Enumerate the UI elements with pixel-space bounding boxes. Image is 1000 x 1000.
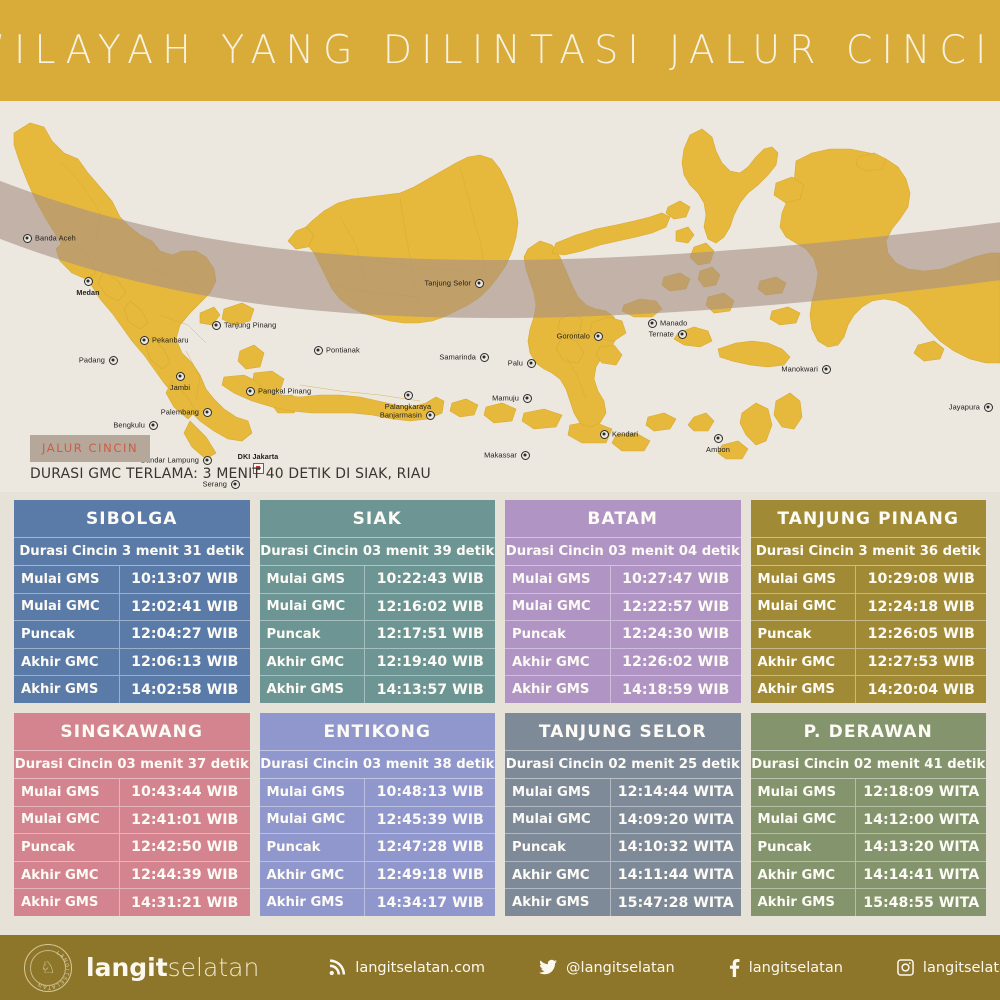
row-label: Akhir GMC	[505, 649, 611, 676]
map-panel: Banda AcehMedanPekanbaruTanjung PinangPa…	[0, 101, 1000, 492]
city-label: Jambi	[170, 383, 190, 392]
row-value: 12:42:50 WIB	[120, 839, 250, 855]
row-label: Akhir GMS	[14, 676, 120, 703]
row-value: 12:49:18 WIB	[365, 867, 495, 883]
card-duration: Durasi Cincin 02 menit 41 detik	[751, 751, 987, 779]
row-value: 12:44:39 WIB	[120, 867, 250, 883]
city-marker	[527, 359, 536, 368]
city-label: Tanjung Pinang	[224, 321, 276, 330]
row-value: 10:13:07 WIB	[120, 571, 250, 587]
row-label: Puncak	[751, 621, 857, 648]
city-marker	[523, 394, 532, 403]
row-value: 12:18:09 WITA	[856, 784, 986, 800]
table-row: Mulai GMS10:22:43 WIB	[260, 566, 496, 594]
brand-block: LANGITSELATAN ♘ langitselatan	[24, 944, 259, 992]
row-label: Akhir GMS	[14, 889, 120, 916]
city-marker	[480, 353, 489, 362]
table-row: Akhir GMS15:47:28 WITA	[505, 889, 741, 916]
row-label: Akhir GMC	[14, 862, 120, 889]
city-label: DKI Jakarta	[238, 452, 279, 461]
row-label: Akhir GMC	[260, 862, 366, 889]
table-row: Akhir GMC12:27:53 WIB	[751, 649, 987, 677]
row-label: Puncak	[751, 834, 857, 861]
table-row: Akhir GMC14:14:41 WITA	[751, 862, 987, 890]
row-label: Puncak	[505, 834, 611, 861]
table-row: Puncak12:26:05 WIB	[751, 621, 987, 649]
card-duration: Durasi Cincin 02 menit 25 detik	[505, 751, 741, 779]
page-title: WILAYAH YANG DILINTASI JALUR CINCIN	[0, 28, 1000, 73]
table-row: Mulai GMS10:43:44 WIB	[14, 779, 250, 807]
table-row: Akhir GMC12:49:18 WIB	[260, 862, 496, 890]
row-value: 12:16:02 WIB	[365, 599, 495, 615]
row-value: 10:27:47 WIB	[611, 571, 741, 587]
city-timing-card: P. DERAWANDurasi Cincin 02 menit 41 deti…	[751, 713, 987, 916]
city-label: Makassar	[484, 451, 517, 460]
row-label: Akhir GMS	[505, 676, 611, 703]
row-label: Puncak	[260, 834, 366, 861]
table-row: Mulai GMS10:48:13 WIB	[260, 779, 496, 807]
instagram-icon	[897, 959, 914, 976]
table-row: Mulai GMS10:13:07 WIB	[14, 566, 250, 594]
row-label: Mulai GMS	[260, 566, 366, 593]
city-label: Banjarmasin	[380, 411, 422, 420]
row-label: Mulai GMS	[505, 779, 611, 806]
city-marker	[176, 372, 185, 381]
row-value: 10:22:43 WIB	[365, 571, 495, 587]
city-label: Kendari	[612, 430, 638, 439]
card-title: SIBOLGA	[14, 500, 250, 538]
city-marker	[404, 391, 413, 400]
row-value: 12:19:40 WIB	[365, 654, 495, 670]
card-duration: Durasi Cincin 03 menit 38 detik	[260, 751, 496, 779]
city-label: Medan	[76, 288, 99, 297]
row-value: 12:17:51 WIB	[365, 626, 495, 642]
footer-bar: LANGITSELATAN ♘ langitselatan langitsela…	[0, 935, 1000, 1000]
city-timing-card: BATAMDurasi Cincin 03 menit 04 detikMula…	[505, 500, 741, 703]
row-label: Akhir GMC	[260, 649, 366, 676]
row-label: Mulai GMS	[751, 779, 857, 806]
card-duration: Durasi Cincin 3 menit 31 detik	[14, 538, 250, 566]
table-row: Akhir GMC12:26:02 WIB	[505, 649, 741, 677]
row-label: Mulai GMC	[14, 807, 120, 834]
city-marker	[600, 430, 609, 439]
row-value: 14:13:20 WITA	[856, 839, 986, 855]
row-label: Mulai GMS	[14, 566, 120, 593]
city-marker	[140, 336, 149, 345]
row-value: 12:02:41 WIB	[120, 599, 250, 615]
table-row: Akhir GMC14:11:44 WITA	[505, 862, 741, 890]
row-value: 14:14:41 WITA	[856, 867, 986, 883]
table-row: Puncak12:24:30 WIB	[505, 621, 741, 649]
card-duration: Durasi Cincin 03 menit 37 detik	[14, 751, 250, 779]
row-label: Akhir GMS	[260, 889, 366, 916]
row-label: Akhir GMC	[751, 862, 857, 889]
table-row: Puncak12:42:50 WIB	[14, 834, 250, 862]
table-row: Puncak14:10:32 WITA	[505, 834, 741, 862]
footer-link-label: langitselatan	[749, 960, 843, 976]
city-label: Gorontalo	[557, 332, 590, 341]
card-title: ENTIKONG	[260, 713, 496, 751]
city-label: Jayapura	[949, 403, 980, 412]
table-row: Akhir GMS14:02:58 WIB	[14, 676, 250, 703]
row-label: Mulai GMS	[260, 779, 366, 806]
row-value: 14:31:21 WIB	[120, 895, 250, 911]
city-marker	[23, 234, 32, 243]
city-label: Manokwari	[781, 365, 818, 374]
table-row: Akhir GMS14:31:21 WIB	[14, 889, 250, 916]
city-label: Palu	[508, 359, 523, 368]
city-timing-card: SIBOLGADurasi Cincin 3 menit 31 detikMul…	[14, 500, 250, 703]
brand-name-bold: langit	[86, 953, 168, 982]
row-label: Mulai GMS	[505, 566, 611, 593]
table-row: Puncak12:47:28 WIB	[260, 834, 496, 862]
row-label: Puncak	[505, 621, 611, 648]
row-label: Mulai GMC	[260, 594, 366, 621]
svg-text:LANGITSELATAN: LANGITSELATAN	[36, 950, 70, 990]
city-label: Tanjung Selor	[425, 279, 472, 288]
table-row: Akhir GMC12:44:39 WIB	[14, 862, 250, 890]
city-label: Banda Aceh	[35, 234, 76, 243]
row-label: Akhir GMC	[14, 649, 120, 676]
footer-link-twitter[interactable]: @langitselatan	[539, 959, 675, 976]
row-label: Mulai GMC	[14, 594, 120, 621]
footer-link-label: langitselatanmedia	[923, 960, 1000, 976]
legend-jalur-cincin: JALUR CINCIN	[30, 435, 150, 462]
row-value: 14:09:20 WITA	[611, 812, 741, 828]
row-label: Mulai GMC	[751, 594, 857, 621]
row-label: Mulai GMS	[751, 566, 857, 593]
city-marker	[212, 321, 221, 330]
city-label: Palembang	[161, 408, 199, 417]
row-label: Akhir GMS	[751, 889, 857, 916]
city-marker	[314, 346, 323, 355]
table-row: Mulai GMC12:16:02 WIB	[260, 594, 496, 622]
map-caption: DURASI GMC TERLAMA: 3 MENIT 40 DETIK DI …	[30, 466, 431, 482]
twitter-icon	[539, 959, 557, 976]
infographic-page: WILAYAH YANG DILINTASI JALUR CINCIN	[0, 0, 1000, 1000]
city-label: Pangkal Pinang	[258, 387, 311, 396]
row-label: Puncak	[14, 621, 120, 648]
logo-ring-icon: LANGITSELATAN	[25, 945, 72, 992]
row-label: Akhir GMC	[751, 649, 857, 676]
table-row: Mulai GMS12:14:44 WITA	[505, 779, 741, 807]
table-row: Akhir GMC12:06:13 WIB	[14, 649, 250, 677]
city-timing-grid: SIBOLGADurasi Cincin 3 menit 31 detikMul…	[0, 500, 1000, 935]
row-label: Puncak	[14, 834, 120, 861]
card-title: SINGKAWANG	[14, 713, 250, 751]
row-value: 14:10:32 WITA	[611, 839, 741, 855]
row-value: 12:14:44 WITA	[611, 784, 741, 800]
row-value: 10:29:08 WIB	[856, 571, 986, 587]
row-value: 12:26:02 WIB	[611, 654, 741, 670]
row-value: 14:34:17 WIB	[365, 895, 495, 911]
row-value: 12:24:18 WIB	[856, 599, 986, 615]
city-marker	[109, 356, 118, 365]
row-value: 12:47:28 WIB	[365, 839, 495, 855]
city-marker	[203, 408, 212, 417]
city-timing-card: TANJUNG PINANGDurasi Cincin 3 menit 36 d…	[751, 500, 987, 703]
row-label: Mulai GMS	[14, 779, 120, 806]
card-title: P. DERAWAN	[751, 713, 987, 751]
card-title: TANJUNG SELOR	[505, 713, 741, 751]
table-row: Akhir GMS14:13:57 WIB	[260, 676, 496, 703]
table-row: Akhir GMS14:34:17 WIB	[260, 889, 496, 916]
row-value: 15:47:28 WITA	[611, 895, 741, 911]
table-row: Mulai GMS10:27:47 WIB	[505, 566, 741, 594]
row-value: 14:13:57 WIB	[365, 682, 495, 698]
footer-link-label: @langitselatan	[566, 960, 675, 976]
city-marker	[521, 451, 530, 460]
city-marker	[84, 277, 93, 286]
table-row: Mulai GMC12:24:18 WIB	[751, 594, 987, 622]
row-value: 12:26:05 WIB	[856, 626, 986, 642]
city-label: Pekanbaru	[152, 336, 189, 345]
row-value: 12:27:53 WIB	[856, 654, 986, 670]
row-value: 14:20:04 WIB	[856, 682, 986, 698]
row-value: 12:24:30 WIB	[611, 626, 741, 642]
table-row: Mulai GMC14:12:00 WITA	[751, 807, 987, 835]
row-value: 14:11:44 WITA	[611, 867, 741, 883]
row-label: Akhir GMS	[260, 676, 366, 703]
row-value: 14:12:00 WITA	[856, 812, 986, 828]
city-label: Mamuju	[492, 394, 519, 403]
legend-label: JALUR CINCIN	[42, 441, 138, 455]
facebook-icon	[729, 959, 740, 977]
table-row: Mulai GMS10:29:08 WIB	[751, 566, 987, 594]
indonesia-map	[0, 101, 1000, 492]
footer-link-facebook[interactable]: langitselatan	[729, 959, 843, 977]
city-label: Manado	[660, 319, 687, 328]
card-duration: Durasi Cincin 03 menit 39 detik	[260, 538, 496, 566]
card-title: BATAM	[505, 500, 741, 538]
table-row: Mulai GMC12:41:01 WIB	[14, 807, 250, 835]
row-value: 15:48:55 WITA	[856, 895, 986, 911]
city-marker	[822, 365, 831, 374]
city-timing-card: SINGKAWANGDurasi Cincin 03 menit 37 deti…	[14, 713, 250, 916]
card-duration: Durasi Cincin 03 menit 04 detik	[505, 538, 741, 566]
row-value: 14:02:58 WIB	[120, 682, 250, 698]
table-row: Akhir GMC12:19:40 WIB	[260, 649, 496, 677]
footer-link-label: langitselatan.com	[355, 960, 485, 976]
city-label: Ambon	[706, 445, 730, 454]
table-row: Puncak14:13:20 WITA	[751, 834, 987, 862]
city-marker	[426, 411, 435, 420]
row-label: Akhir GMC	[505, 862, 611, 889]
city-label: Padang	[79, 356, 105, 365]
city-label: Pontianak	[326, 346, 360, 355]
city-label: Ternate	[649, 330, 674, 339]
row-label: Mulai GMC	[751, 807, 857, 834]
langitselatan-logo-icon: LANGITSELATAN ♘	[24, 944, 72, 992]
rss-icon	[329, 959, 346, 976]
row-label: Puncak	[260, 621, 366, 648]
table-row: Akhir GMS14:20:04 WIB	[751, 676, 987, 703]
table-row: Mulai GMC12:22:57 WIB	[505, 594, 741, 622]
city-marker	[714, 434, 723, 443]
row-value: 12:06:13 WIB	[120, 654, 250, 670]
footer-link-instagram[interactable]: langitselatanmedia	[897, 959, 1000, 976]
city-label: Samarinda	[439, 353, 476, 362]
card-title: TANJUNG PINANG	[751, 500, 987, 538]
row-label: Mulai GMC	[505, 807, 611, 834]
city-marker	[246, 387, 255, 396]
row-value: 14:18:59 WIB	[611, 682, 741, 698]
table-row: Mulai GMC14:09:20 WITA	[505, 807, 741, 835]
row-label: Akhir GMS	[751, 676, 857, 703]
table-row: Akhir GMS15:48:55 WITA	[751, 889, 987, 916]
card-title: SIAK	[260, 500, 496, 538]
city-timing-card: ENTIKONGDurasi Cincin 03 menit 38 detikM…	[260, 713, 496, 916]
table-row: Puncak12:04:27 WIB	[14, 621, 250, 649]
table-row: Mulai GMS12:18:09 WITA	[751, 779, 987, 807]
table-row: Mulai GMC12:02:41 WIB	[14, 594, 250, 622]
row-value: 12:04:27 WIB	[120, 626, 250, 642]
row-label: Mulai GMC	[260, 807, 366, 834]
table-row: Mulai GMC12:45:39 WIB	[260, 807, 496, 835]
row-value: 12:45:39 WIB	[365, 812, 495, 828]
city-marker	[984, 403, 993, 412]
row-value: 10:43:44 WIB	[120, 784, 250, 800]
city-marker	[203, 456, 212, 465]
card-duration: Durasi Cincin 3 menit 36 detik	[751, 538, 987, 566]
city-marker	[475, 279, 484, 288]
footer-link-rss[interactable]: langitselatan.com	[329, 959, 485, 976]
table-row: Puncak12:17:51 WIB	[260, 621, 496, 649]
brand-name: langitselatan	[86, 955, 259, 980]
table-row: Akhir GMS14:18:59 WIB	[505, 676, 741, 703]
city-label: Bengkulu	[113, 421, 145, 430]
row-label: Mulai GMC	[505, 594, 611, 621]
city-timing-card: TANJUNG SELORDurasi Cincin 02 menit 25 d…	[505, 713, 741, 916]
row-label: Akhir GMS	[505, 889, 611, 916]
city-timing-card: SIAKDurasi Cincin 03 menit 39 detikMulai…	[260, 500, 496, 703]
city-marker	[594, 332, 603, 341]
footer-links: langitselatan.com@langitselatanlangitsel…	[329, 959, 1000, 977]
city-marker	[678, 330, 687, 339]
brand-name-light: selatan	[168, 953, 260, 982]
city-marker	[648, 319, 657, 328]
row-value: 12:41:01 WIB	[120, 812, 250, 828]
city-marker	[149, 421, 158, 430]
title-bar: WILAYAH YANG DILINTASI JALUR CINCIN	[0, 0, 1000, 101]
row-value: 10:48:13 WIB	[365, 784, 495, 800]
row-value: 12:22:57 WIB	[611, 599, 741, 615]
